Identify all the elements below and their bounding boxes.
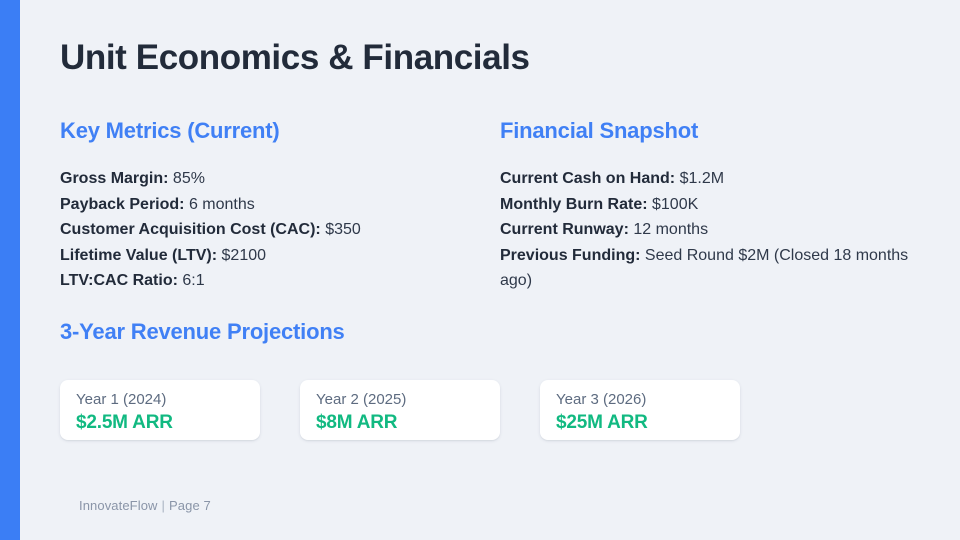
metric-label: Current Cash on Hand: [500, 170, 675, 187]
projection-card-year-label: Year 1 (2024) [76, 389, 244, 410]
list-item: Previous Funding: Seed Round $2M (Closed… [500, 243, 920, 294]
list-item: Payback Period: 6 months [60, 192, 480, 218]
metric-value: 6:1 [182, 272, 204, 289]
metric-label: Monthly Burn Rate: [500, 196, 648, 213]
key-metrics-list: Gross Margin: 85% Payback Period: 6 mont… [60, 166, 480, 294]
list-item: Current Cash on Hand: $1.2M [500, 166, 920, 192]
projection-card-year-label: Year 2 (2025) [316, 389, 484, 410]
revenue-projection-cards: Year 1 (2024) $2.5M ARR Year 2 (2025) $8… [60, 380, 740, 440]
metric-label: LTV:CAC Ratio: [60, 272, 178, 289]
metric-value: $100K [652, 196, 698, 213]
list-item: Customer Acquisition Cost (CAC): $350 [60, 217, 480, 243]
metric-label: Payback Period: [60, 196, 185, 213]
footer-page-number: Page 7 [169, 498, 211, 513]
projection-card-arr-value: $25M ARR [556, 410, 724, 436]
left-accent-bar [0, 0, 20, 540]
slide-canvas: Unit Economics & Financials Key Metrics … [20, 0, 960, 540]
metric-label: Customer Acquisition Cost (CAC): [60, 221, 321, 238]
list-item: Lifetime Value (LTV): $2100 [60, 243, 480, 269]
key-metrics-heading: Key Metrics (Current) [60, 118, 480, 144]
slide-footer: InnovateFlow|Page 7 [79, 498, 211, 513]
projection-card-year-3: Year 3 (2026) $25M ARR [540, 380, 740, 440]
list-item: Monthly Burn Rate: $100K [500, 192, 920, 218]
projection-card-arr-value: $8M ARR [316, 410, 484, 436]
metric-value: 6 months [189, 196, 255, 213]
page-title: Unit Economics & Financials [60, 38, 530, 78]
projection-card-year-1: Year 1 (2024) $2.5M ARR [60, 380, 260, 440]
projection-card-year-2: Year 2 (2025) $8M ARR [300, 380, 500, 440]
financial-snapshot-list: Current Cash on Hand: $1.2M Monthly Burn… [500, 166, 920, 294]
metric-label: Gross Margin: [60, 170, 168, 187]
metric-value: $2100 [222, 247, 267, 264]
list-item: Current Runway: 12 months [500, 217, 920, 243]
key-metrics-section: Key Metrics (Current) Gross Margin: 85% … [60, 118, 480, 294]
revenue-projections-heading: 3-Year Revenue Projections [60, 319, 345, 345]
financial-snapshot-section: Financial Snapshot Current Cash on Hand:… [500, 118, 920, 294]
footer-company: InnovateFlow [79, 498, 158, 513]
projection-card-arr-value: $2.5M ARR [76, 410, 244, 436]
metric-value: $350 [325, 221, 361, 238]
metric-label: Previous Funding: [500, 247, 640, 264]
metric-label: Lifetime Value (LTV): [60, 247, 217, 264]
list-item: Gross Margin: 85% [60, 166, 480, 192]
financial-snapshot-heading: Financial Snapshot [500, 118, 920, 144]
projection-card-year-label: Year 3 (2026) [556, 389, 724, 410]
list-item: LTV:CAC Ratio: 6:1 [60, 268, 480, 294]
footer-separator: | [162, 498, 165, 513]
metric-label: Current Runway: [500, 221, 629, 238]
metric-value: $1.2M [680, 170, 724, 187]
metric-value: 12 months [633, 221, 708, 238]
metric-value: 85% [173, 170, 205, 187]
